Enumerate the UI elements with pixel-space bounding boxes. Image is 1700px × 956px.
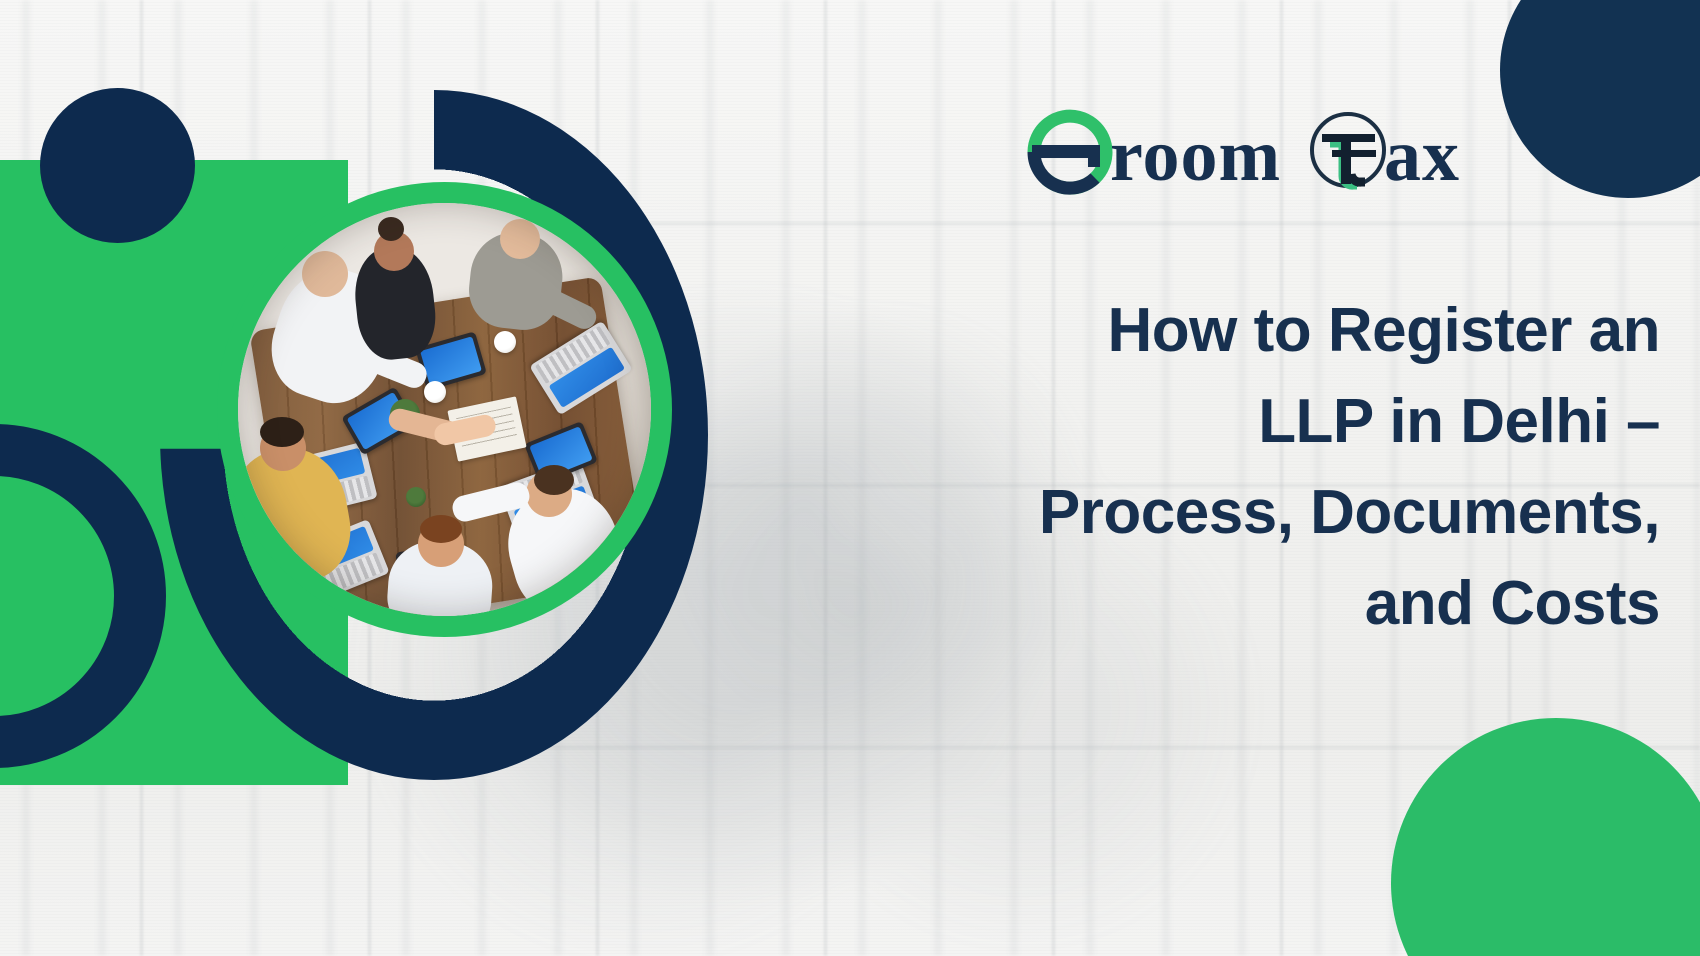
groomtax-logo-icon: room ax [1010,96,1496,208]
photo-cup [494,331,516,353]
headline-line: How to Register an [880,285,1660,376]
groomtax-logo[interactable]: room ax [1010,96,1496,208]
headline-line: and Costs [880,558,1660,649]
svg-text:room: room [1110,115,1281,197]
blog-hero-banner: room ax How to Register an LLP in Delhi … [0,0,1700,956]
photo-cup [424,381,446,403]
headline-line: LLP in Delhi – [880,376,1660,467]
page-title: How to Register an LLP in Delhi – Proces… [880,285,1660,650]
headline-line: Process, Documents, [880,467,1660,558]
hero-ring-composition [120,90,710,790]
hero-image [238,203,651,616]
svg-text:ax: ax [1384,115,1460,197]
photo-plant [406,487,426,507]
